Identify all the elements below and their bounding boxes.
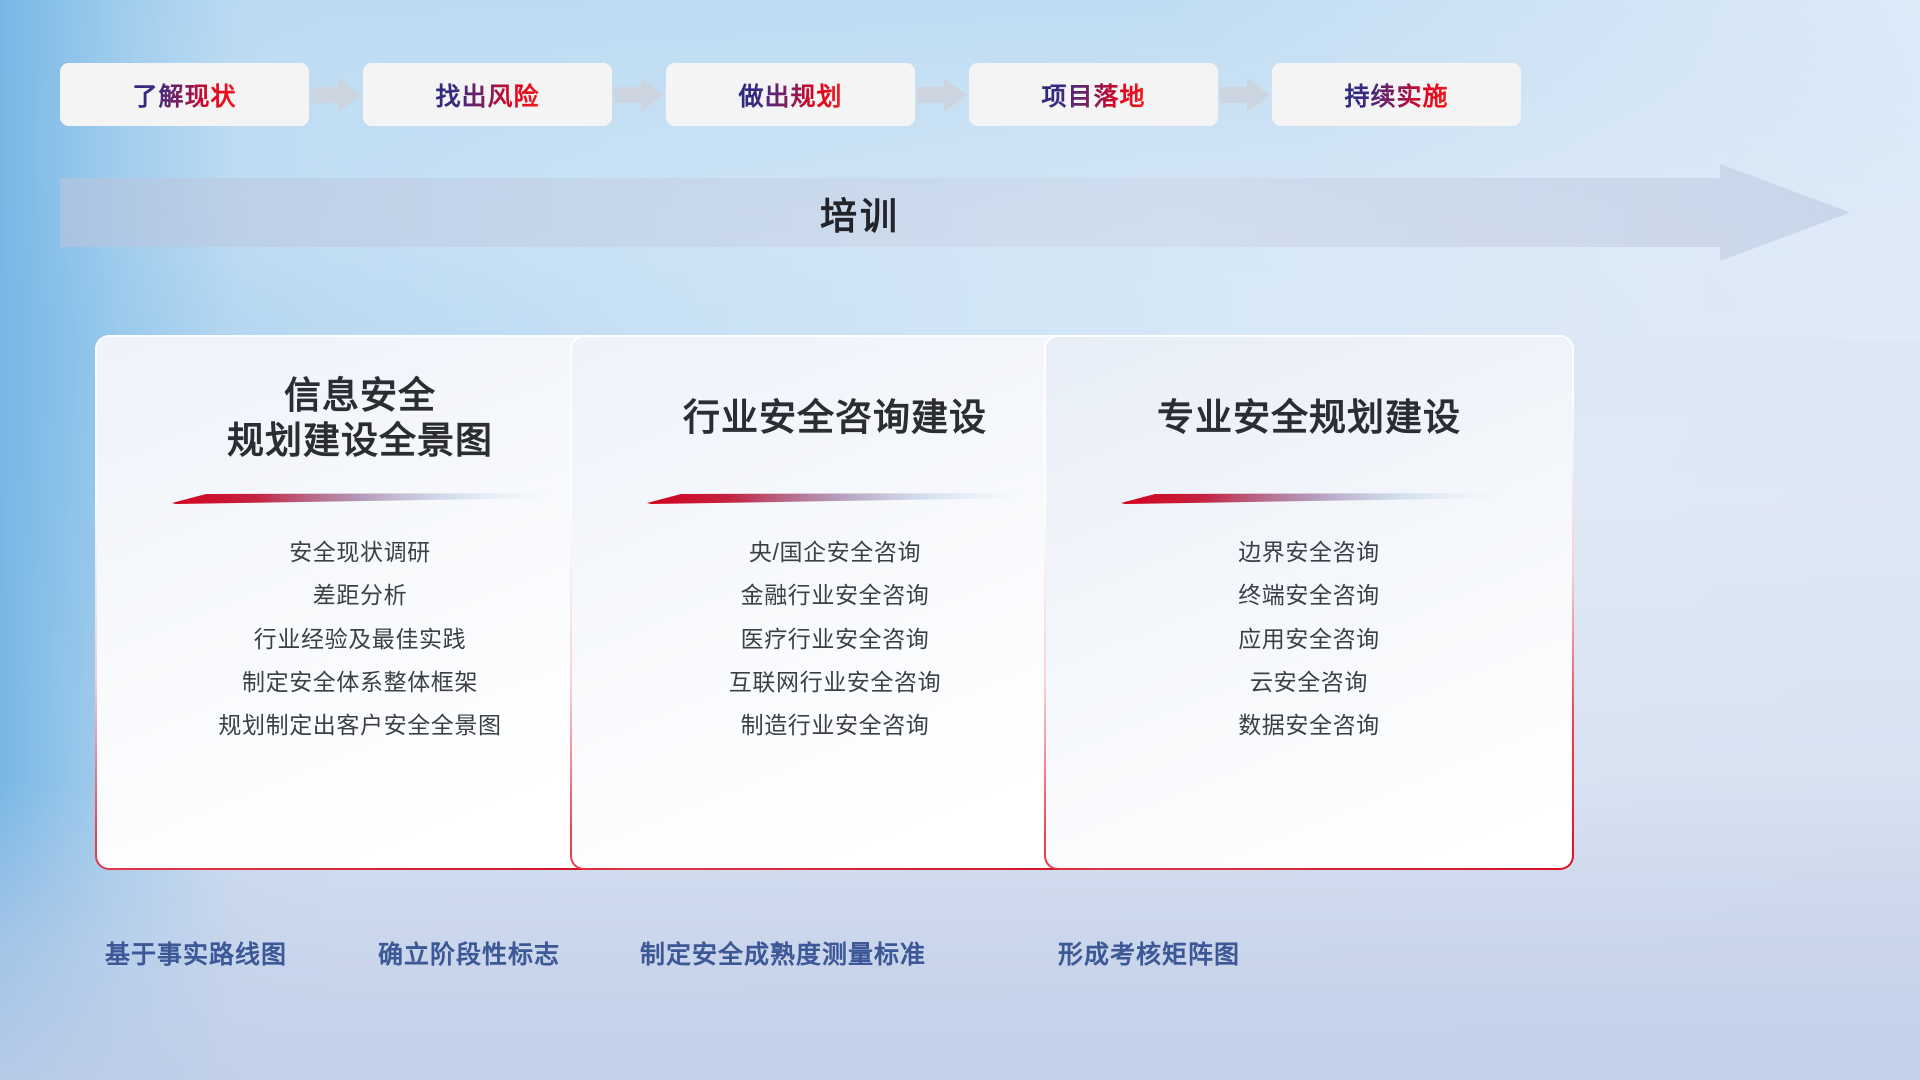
chevron-right-arrow-icon (1218, 77, 1272, 113)
step-box-4[interactable]: 项目落地 (969, 63, 1218, 126)
list-item: 应用安全咨询 (1238, 627, 1380, 652)
card-item-list: 边界安全咨询 终端安全咨询 应用安全咨询 云安全咨询 数据安全咨询 (1046, 540, 1572, 738)
card-item-list: 央/国企安全咨询 金融行业安全咨询 医疗行业安全咨询 互联网行业安全咨询 制造行… (572, 540, 1098, 738)
list-item: 行业经验及最佳实践 (254, 627, 466, 652)
card-body: 信息安全 规划建设全景图 (97, 337, 623, 868)
step-label: 项目落地 (1041, 77, 1145, 113)
card-body: 行业安全咨询建设 央/国 (572, 337, 1098, 868)
red-gradient-divider-icon (170, 493, 550, 504)
list-item: 数据安全咨询 (1238, 713, 1380, 738)
list-item: 金融行业安全咨询 (741, 583, 930, 608)
card-body: 专业安全规划建设 边界安 (1046, 337, 1572, 868)
chevron-right-arrow-icon (309, 77, 363, 113)
step-box-3[interactable]: 做出规划 (666, 63, 915, 126)
card-industry-security-consulting[interactable]: 行业安全咨询建设 央/国 (570, 335, 1100, 870)
list-item: 制造行业安全咨询 (741, 713, 930, 738)
step-box-1[interactable]: 了解现状 (60, 63, 309, 126)
banner-title: 培训 (60, 164, 1660, 261)
list-item: 央/国企安全咨询 (749, 540, 921, 565)
card-info-security-blueprint[interactable]: 信息安全 规划建设全景图 (95, 335, 625, 870)
step-box-2[interactable]: 找出风险 (363, 63, 612, 126)
step-box-5[interactable]: 持续实施 (1272, 63, 1521, 126)
chevron-right-arrow-icon (915, 77, 969, 113)
chevron-right-arrow-icon (612, 77, 666, 113)
step-label: 做出规划 (738, 77, 842, 113)
list-item: 边界安全咨询 (1238, 540, 1380, 565)
card-title: 信息安全 规划建设全景图 (227, 373, 493, 464)
list-item: 差距分析 (313, 583, 407, 608)
card-title: 行业安全咨询建设 (683, 395, 987, 441)
list-item: 医疗行业安全咨询 (741, 627, 930, 652)
training-banner: 培训 (60, 164, 1850, 261)
caption-label: 基于事实路线图 (105, 935, 287, 971)
list-item: 互联网行业安全咨询 (729, 670, 941, 695)
card-professional-security-planning[interactable]: 专业安全规划建设 边界安 (1044, 335, 1574, 870)
card-title-wrap: 专业安全规划建设 (1157, 337, 1461, 487)
card-row: 信息安全 规划建设全景图 (0, 335, 1920, 875)
process-step-row: 了解现状 找出风险 做出规划 项目落地 持续实施 (60, 62, 1860, 127)
step-label: 持续实施 (1344, 77, 1448, 113)
card-title: 专业安全规划建设 (1157, 395, 1461, 441)
list-item: 制定安全体系整体框架 (242, 670, 478, 695)
step-label: 了解现状 (132, 77, 236, 113)
list-item: 终端安全咨询 (1238, 583, 1380, 608)
list-item: 规划制定出客户安全全景图 (218, 713, 501, 738)
list-item: 安全现状调研 (289, 540, 431, 565)
caption-label: 制定安全成熟度测量标准 (640, 935, 926, 971)
caption-row: 基于事实路线图 确立阶段性标志 制定安全成熟度测量标准 形成考核矩阵图 (0, 935, 1920, 983)
step-label: 找出风险 (435, 77, 539, 113)
card-item-list: 安全现状调研 差距分析 行业经验及最佳实践 制定安全体系整体框架 规划制定出客户… (97, 540, 623, 738)
list-item: 云安全咨询 (1250, 670, 1368, 695)
caption-label: 形成考核矩阵图 (1058, 935, 1240, 971)
red-gradient-divider-icon (1119, 493, 1499, 504)
card-title-wrap: 信息安全 规划建设全景图 (227, 337, 493, 487)
card-title-wrap: 行业安全咨询建设 (683, 337, 987, 487)
red-gradient-divider-icon (645, 493, 1025, 504)
caption-label: 确立阶段性标志 (378, 935, 560, 971)
